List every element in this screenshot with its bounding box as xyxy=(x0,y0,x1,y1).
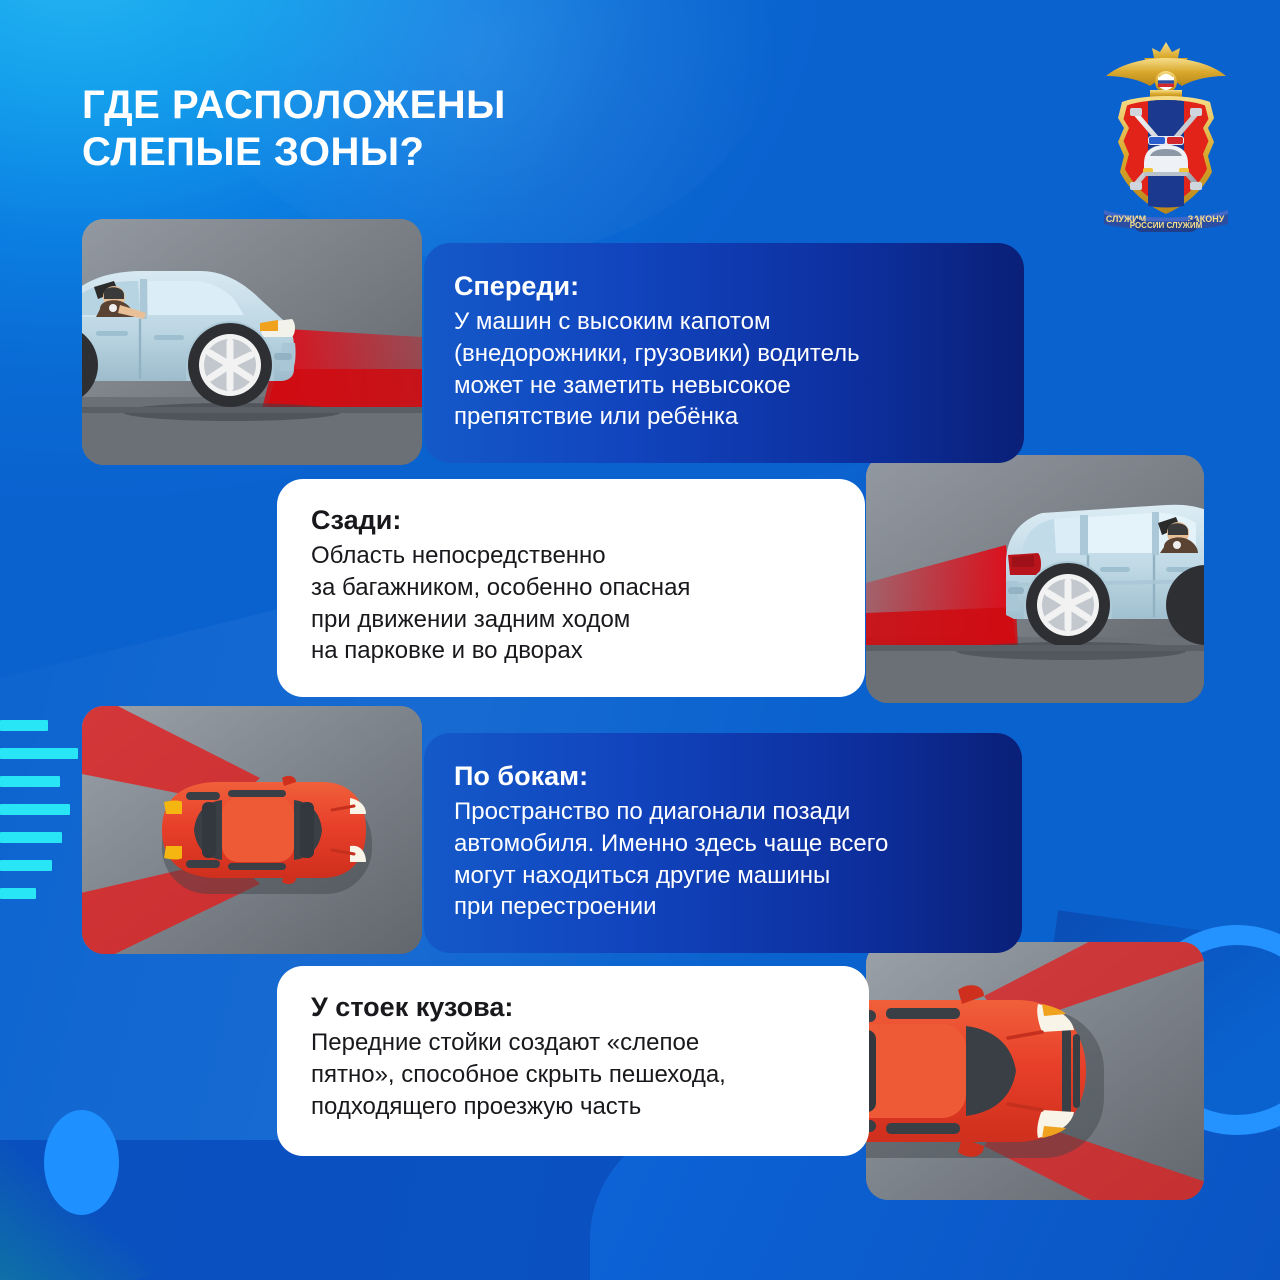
card-front-line-4: препятствие или ребёнка xyxy=(454,401,994,433)
card-front-line-3: может не заметить невысокое xyxy=(454,370,994,402)
card-rear-line-4: на парковке и во дворах xyxy=(311,635,835,667)
card-pillars-title: У стоек кузова: xyxy=(311,992,839,1022)
card-rear-line-2: за багажником, особенно опасная xyxy=(311,572,835,604)
page-title: ГДЕ РАСПОЛОЖЕНЫ СЛЕПЫЕ ЗОНЫ? xyxy=(82,82,506,176)
page-title-line-2: СЛЕПЫЕ ЗОНЫ? xyxy=(82,129,506,176)
card-sides-line-1: Пространство по диагонали позади xyxy=(454,796,992,828)
mvd-emblem-icon: СЛУЖИМ ЗАКОНУ РОССИИ СЛУЖИМ xyxy=(1094,32,1238,232)
card-pillars-line-1: Передние стойки создают «слепое xyxy=(311,1027,839,1059)
card-sides-title: По бокам: xyxy=(454,761,992,791)
card-sides-line-4: при перестроении xyxy=(454,891,992,923)
card-rear-line-1: Область непосредственно xyxy=(311,540,835,572)
card-sides-body: Пространство по диагонали позади автомоб… xyxy=(454,796,992,923)
card-front: Спереди: У машин с высоким капотом (внед… xyxy=(424,243,1024,463)
card-pillars-line-3: подходящего проезжую часть xyxy=(311,1091,839,1123)
card-rear-title: Сзади: xyxy=(311,505,835,535)
card-front-line-1: У машин с высоким капотом xyxy=(454,306,994,338)
page-title-line-1: ГДЕ РАСПОЛОЖЕНЫ xyxy=(82,82,506,129)
card-front-title: Спереди: xyxy=(454,271,994,301)
card-rear-line-3: при движении задним ходом xyxy=(311,604,835,636)
card-pillars: У стоек кузова: Передние стойки создают … xyxy=(277,966,869,1156)
illustration-rear-view xyxy=(866,455,1204,703)
svg-text:РОССИИ СЛУЖИМ: РОССИИ СЛУЖИМ xyxy=(1130,221,1203,230)
card-pillars-line-2: пятно», способное скрыть пешехода, xyxy=(311,1059,839,1091)
illustration-front-view xyxy=(82,219,422,465)
decorative-dashes xyxy=(0,720,80,916)
illustration-pillar-view xyxy=(866,942,1204,1200)
card-sides: По бокам: Пространство по диагонали поза… xyxy=(424,733,1022,953)
card-sides-line-2: автомобиля. Именно здесь чаще всего xyxy=(454,828,992,860)
card-front-body: У машин с высоким капотом (внедорожники,… xyxy=(454,306,994,433)
infographic-canvas: ГДЕ РАСПОЛОЖЕНЫ СЛЕПЫЕ ЗОНЫ? xyxy=(0,0,1280,1280)
card-front-line-2: (внедорожники, грузовики) водитель xyxy=(454,338,994,370)
card-rear: Сзади: Область непосредственно за багажн… xyxy=(277,479,865,697)
card-sides-line-3: могут находиться другие машины xyxy=(454,860,992,892)
card-pillars-body: Передние стойки создают «слепое пятно», … xyxy=(311,1027,839,1122)
illustration-side-view xyxy=(82,706,422,954)
background-ellipse xyxy=(44,1110,119,1215)
card-rear-body: Область непосредственно за багажником, о… xyxy=(311,540,835,667)
